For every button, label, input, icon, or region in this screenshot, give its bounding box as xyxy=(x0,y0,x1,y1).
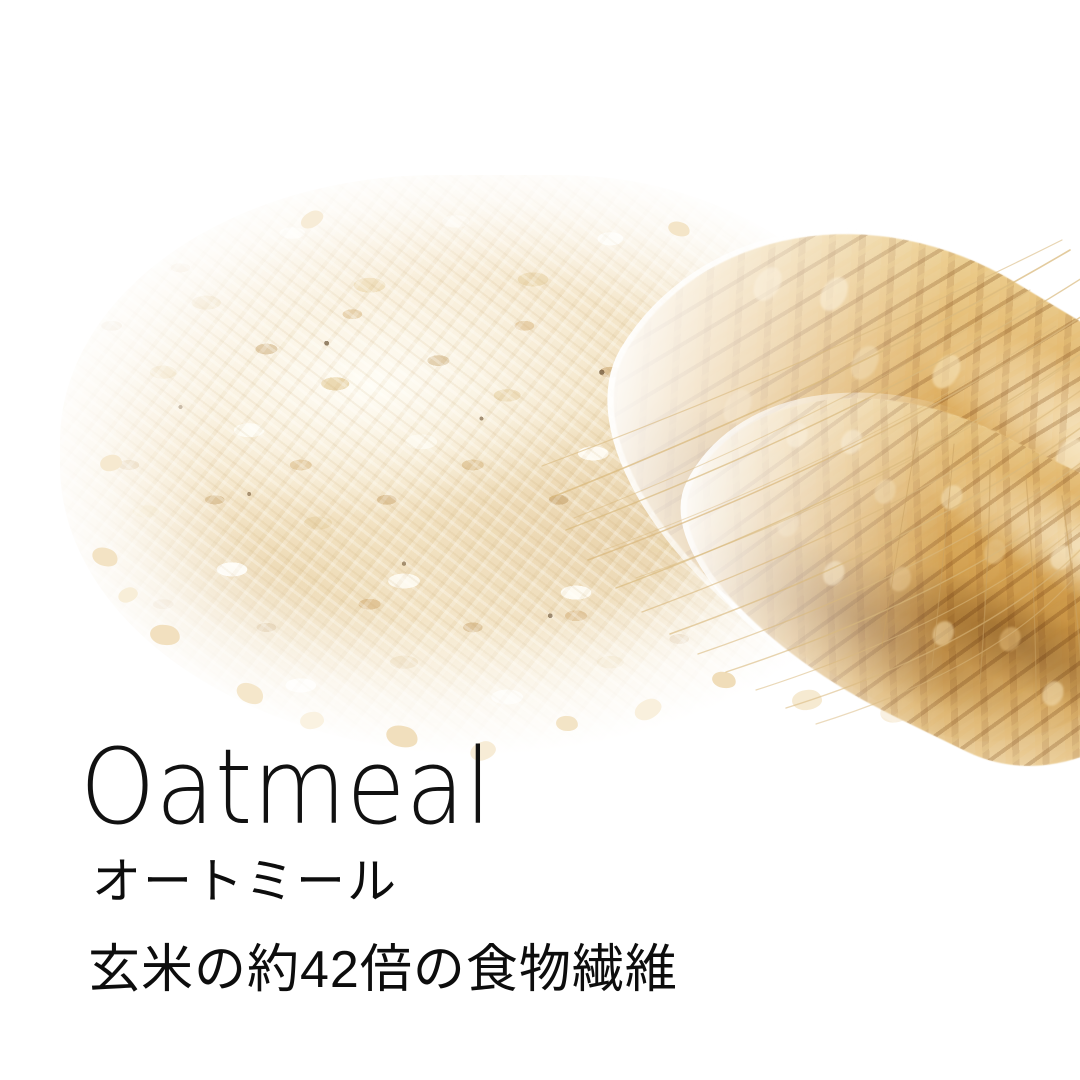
product-title-japanese: オートミール xyxy=(92,858,398,907)
food-photograph xyxy=(0,0,1080,1080)
oatmeal-product-image: Oatmeal オートミール 玄米の約42倍の食物繊維 xyxy=(0,0,1080,1080)
product-subtitle-japanese: 玄米の約42倍の食物繊維 xyxy=(88,944,678,996)
product-title-english: Oatmeal xyxy=(80,735,492,839)
